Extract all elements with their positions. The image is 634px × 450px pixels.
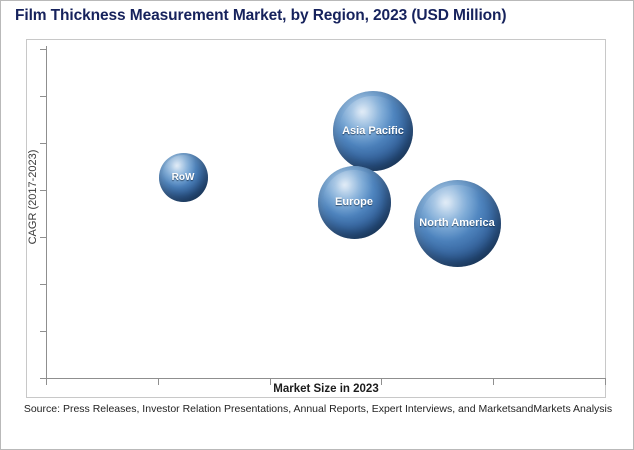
- bubble-north-america[interactable]: North America: [414, 180, 501, 267]
- y-axis-tick: [40, 331, 46, 332]
- source-note: Source: Press Releases, Investor Relatio…: [21, 402, 615, 416]
- bubble-label: RoW: [172, 172, 195, 183]
- y-axis-tick: [40, 49, 46, 50]
- bubble-asia-pacific[interactable]: Asia Pacific: [333, 91, 413, 171]
- bubble-label: Asia Pacific: [342, 125, 404, 137]
- x-axis-line: [46, 378, 606, 379]
- bubble-row[interactable]: RoW: [159, 153, 208, 202]
- bubble-label: North America: [419, 217, 494, 229]
- chart-title: Film Thickness Measurement Market, by Re…: [15, 7, 621, 25]
- y-axis-label: CAGR (2017-2023): [27, 107, 39, 287]
- y-axis-tick: [40, 143, 46, 144]
- x-axis-label: Market Size in 2023: [46, 383, 606, 395]
- y-axis-tick: [40, 96, 46, 97]
- bubble-europe[interactable]: Europe: [318, 166, 391, 239]
- y-axis-tick: [40, 284, 46, 285]
- bubble-label: Europe: [335, 196, 373, 208]
- y-axis-line: [46, 46, 47, 379]
- y-axis-tick: [40, 190, 46, 191]
- chart-figure: Film Thickness Measurement Market, by Re…: [0, 0, 634, 450]
- plot-area: [26, 39, 606, 398]
- y-axis-tick: [40, 237, 46, 238]
